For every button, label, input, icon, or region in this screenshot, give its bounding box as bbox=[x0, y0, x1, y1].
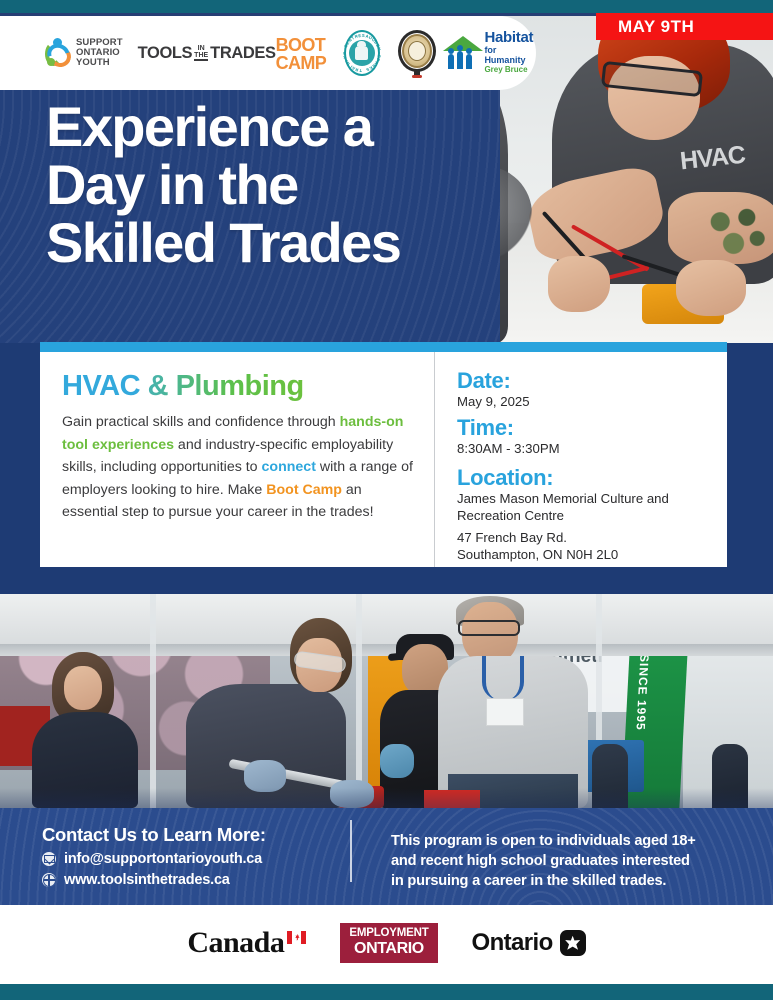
card-body-text: Gain practical skills and confidence thr… bbox=[62, 411, 418, 524]
photo-hand-left bbox=[548, 256, 610, 312]
support-ontario-youth-icon bbox=[45, 38, 72, 68]
photo2-woman-face bbox=[64, 666, 102, 710]
body-highlight-bootcamp: Boot Camp bbox=[266, 482, 342, 498]
title-line-3: Skilled Trades bbox=[46, 214, 400, 272]
habitat-icon bbox=[443, 36, 480, 70]
soy-line-3: YOUTH bbox=[76, 58, 123, 68]
photo2-tent-pole-2 bbox=[356, 594, 362, 808]
contact-block: Contact Us to Learn More: info@supporton… bbox=[42, 824, 266, 888]
tit-inthe: IN THE bbox=[194, 45, 208, 62]
envelope-icon bbox=[42, 852, 56, 866]
employment-ontario-line-2: ONTARIO bbox=[349, 941, 428, 957]
employment-ontario-line-1: EMPLOYMENT bbox=[349, 928, 428, 940]
address-line-1: 47 French Bay Rd. bbox=[457, 529, 717, 546]
tit-trades: TRADES bbox=[210, 45, 275, 62]
photo2-man-cap-glove bbox=[380, 744, 414, 778]
canada-flag-icon bbox=[287, 931, 306, 944]
tit-inthe-text: IN THE bbox=[194, 45, 208, 62]
contact-website[interactable]: www.toolsinthetrades.ca bbox=[64, 872, 230, 888]
saugeen-sparks-ring-text: SAUGEEN SPARKS TRAINING CENTRE bbox=[343, 29, 381, 77]
contact-title: Contact Us to Learn More: bbox=[42, 824, 266, 846]
card-heading-hvac: HVAC bbox=[62, 370, 140, 402]
logo-bar: SUPPORT ONTARIO YOUTH TOOLS IN THE TRADE… bbox=[0, 16, 536, 90]
time-label: Time: bbox=[457, 415, 717, 440]
contact-website-row[interactable]: www.toolsinthetrades.ca bbox=[42, 872, 266, 888]
photo2-tent-pole-1 bbox=[150, 594, 156, 808]
ontario-wordmark: Ontario bbox=[472, 929, 553, 957]
logo-saugeen-sparks: SAUGEEN SPARKS TRAINING CENTRE bbox=[344, 30, 380, 76]
body-part-1: Gain practical skills and confidence thr… bbox=[62, 414, 340, 430]
tit-bootcamp: BOOT CAMP bbox=[276, 36, 329, 72]
address-line-2: Southampton, ON N0H 2L0 bbox=[457, 546, 717, 563]
contact-email-row[interactable]: info@supportontarioyouth.ca bbox=[42, 851, 266, 867]
date-label: Date: bbox=[457, 368, 717, 393]
logo-government-of-canada: Canada bbox=[187, 928, 306, 958]
info-card: HVAC & Plumbing Gain practical skills an… bbox=[40, 352, 727, 567]
photo2-id-badge bbox=[486, 698, 524, 726]
date-badge: MAY 9TH bbox=[596, 13, 773, 40]
logo-first-nation-emblem bbox=[395, 28, 428, 78]
card-heading-plumbing: & Plumbing bbox=[148, 370, 304, 402]
location-name-line-1: James Mason Memorial Culture and bbox=[457, 490, 717, 507]
photo-tattoo bbox=[698, 200, 772, 262]
ontario-trillium-icon bbox=[560, 930, 586, 956]
habitat-line-1: Habitat bbox=[484, 31, 536, 45]
habitat-line-2: for Humanity bbox=[484, 45, 536, 65]
logo-ontario: Ontario bbox=[472, 929, 586, 957]
title-line-2: Day in the bbox=[46, 156, 400, 214]
eligibility-line-2: and recent high school graduates interes… bbox=[391, 851, 741, 871]
logo-employment-ontario: EMPLOYMENT ONTARIO bbox=[340, 923, 437, 963]
support-ontario-youth-text: SUPPORT ONTARIO YOUTH bbox=[76, 38, 123, 67]
photo2-lanyard bbox=[482, 656, 524, 700]
time-value: 8:30AM - 3:30PM bbox=[457, 440, 717, 457]
title-line-1: Experience a bbox=[46, 98, 400, 156]
logo-habitat-for-humanity: Habitat for Humanity Grey Bruce bbox=[443, 31, 536, 75]
photo2-man-grey-glasses bbox=[458, 620, 520, 636]
photo2-bottom-fade bbox=[0, 788, 773, 808]
card-heading: HVAC & Plumbing bbox=[62, 370, 418, 402]
globe-icon bbox=[42, 873, 56, 887]
location-name-line-2: Recreation Centre bbox=[457, 507, 717, 524]
poster: HVAC Experience a Day in the Skilled Tra… bbox=[0, 0, 773, 1000]
canada-wordmark: Canada bbox=[187, 928, 284, 958]
photo-hand-right bbox=[676, 260, 746, 316]
photo2-banner-text: SINCE 1995 bbox=[633, 654, 651, 731]
card-details-column: Date: May 9, 2025 Time: 8:30AM - 3:30PM … bbox=[434, 352, 727, 567]
logo-tools-in-the-trades: TOOLS IN THE TRADES BOOT CAMP bbox=[138, 35, 329, 72]
eligibility-text: This program is open to individuals aged… bbox=[391, 831, 741, 891]
body-highlight-connect: connect bbox=[262, 459, 316, 475]
habitat-text: Habitat for Humanity Grey Bruce bbox=[484, 31, 536, 75]
eligibility-line-3: in pursuing a career in the skilled trad… bbox=[391, 871, 741, 891]
date-value: May 9, 2025 bbox=[457, 393, 717, 410]
card-accent-bar bbox=[40, 342, 727, 352]
location-label: Location: bbox=[457, 465, 717, 490]
logo-support-ontario-youth: SUPPORT ONTARIO YOUTH bbox=[45, 38, 123, 68]
eligibility-line-1: This program is open to individuals aged… bbox=[391, 831, 741, 851]
page-title: Experience a Day in the Skilled Trades bbox=[46, 98, 400, 272]
activity-photo: lsinthetr SINCE 1995 bbox=[0, 594, 773, 808]
card-description-column: HVAC & Plumbing Gain practical skills an… bbox=[40, 352, 434, 567]
habitat-line-3: Grey Bruce bbox=[484, 65, 536, 75]
bottom-teal-strip bbox=[0, 984, 773, 1000]
top-teal-strip bbox=[0, 0, 773, 13]
tit-tools: TOOLS bbox=[138, 45, 193, 62]
contact-email[interactable]: info@supportontarioyouth.ca bbox=[64, 851, 262, 867]
footer-logo-row: Canada EMPLOYMENT ONTARIO Ontario bbox=[0, 923, 773, 963]
contact-divider bbox=[350, 820, 352, 882]
photo2-tent-canopy bbox=[0, 594, 773, 656]
